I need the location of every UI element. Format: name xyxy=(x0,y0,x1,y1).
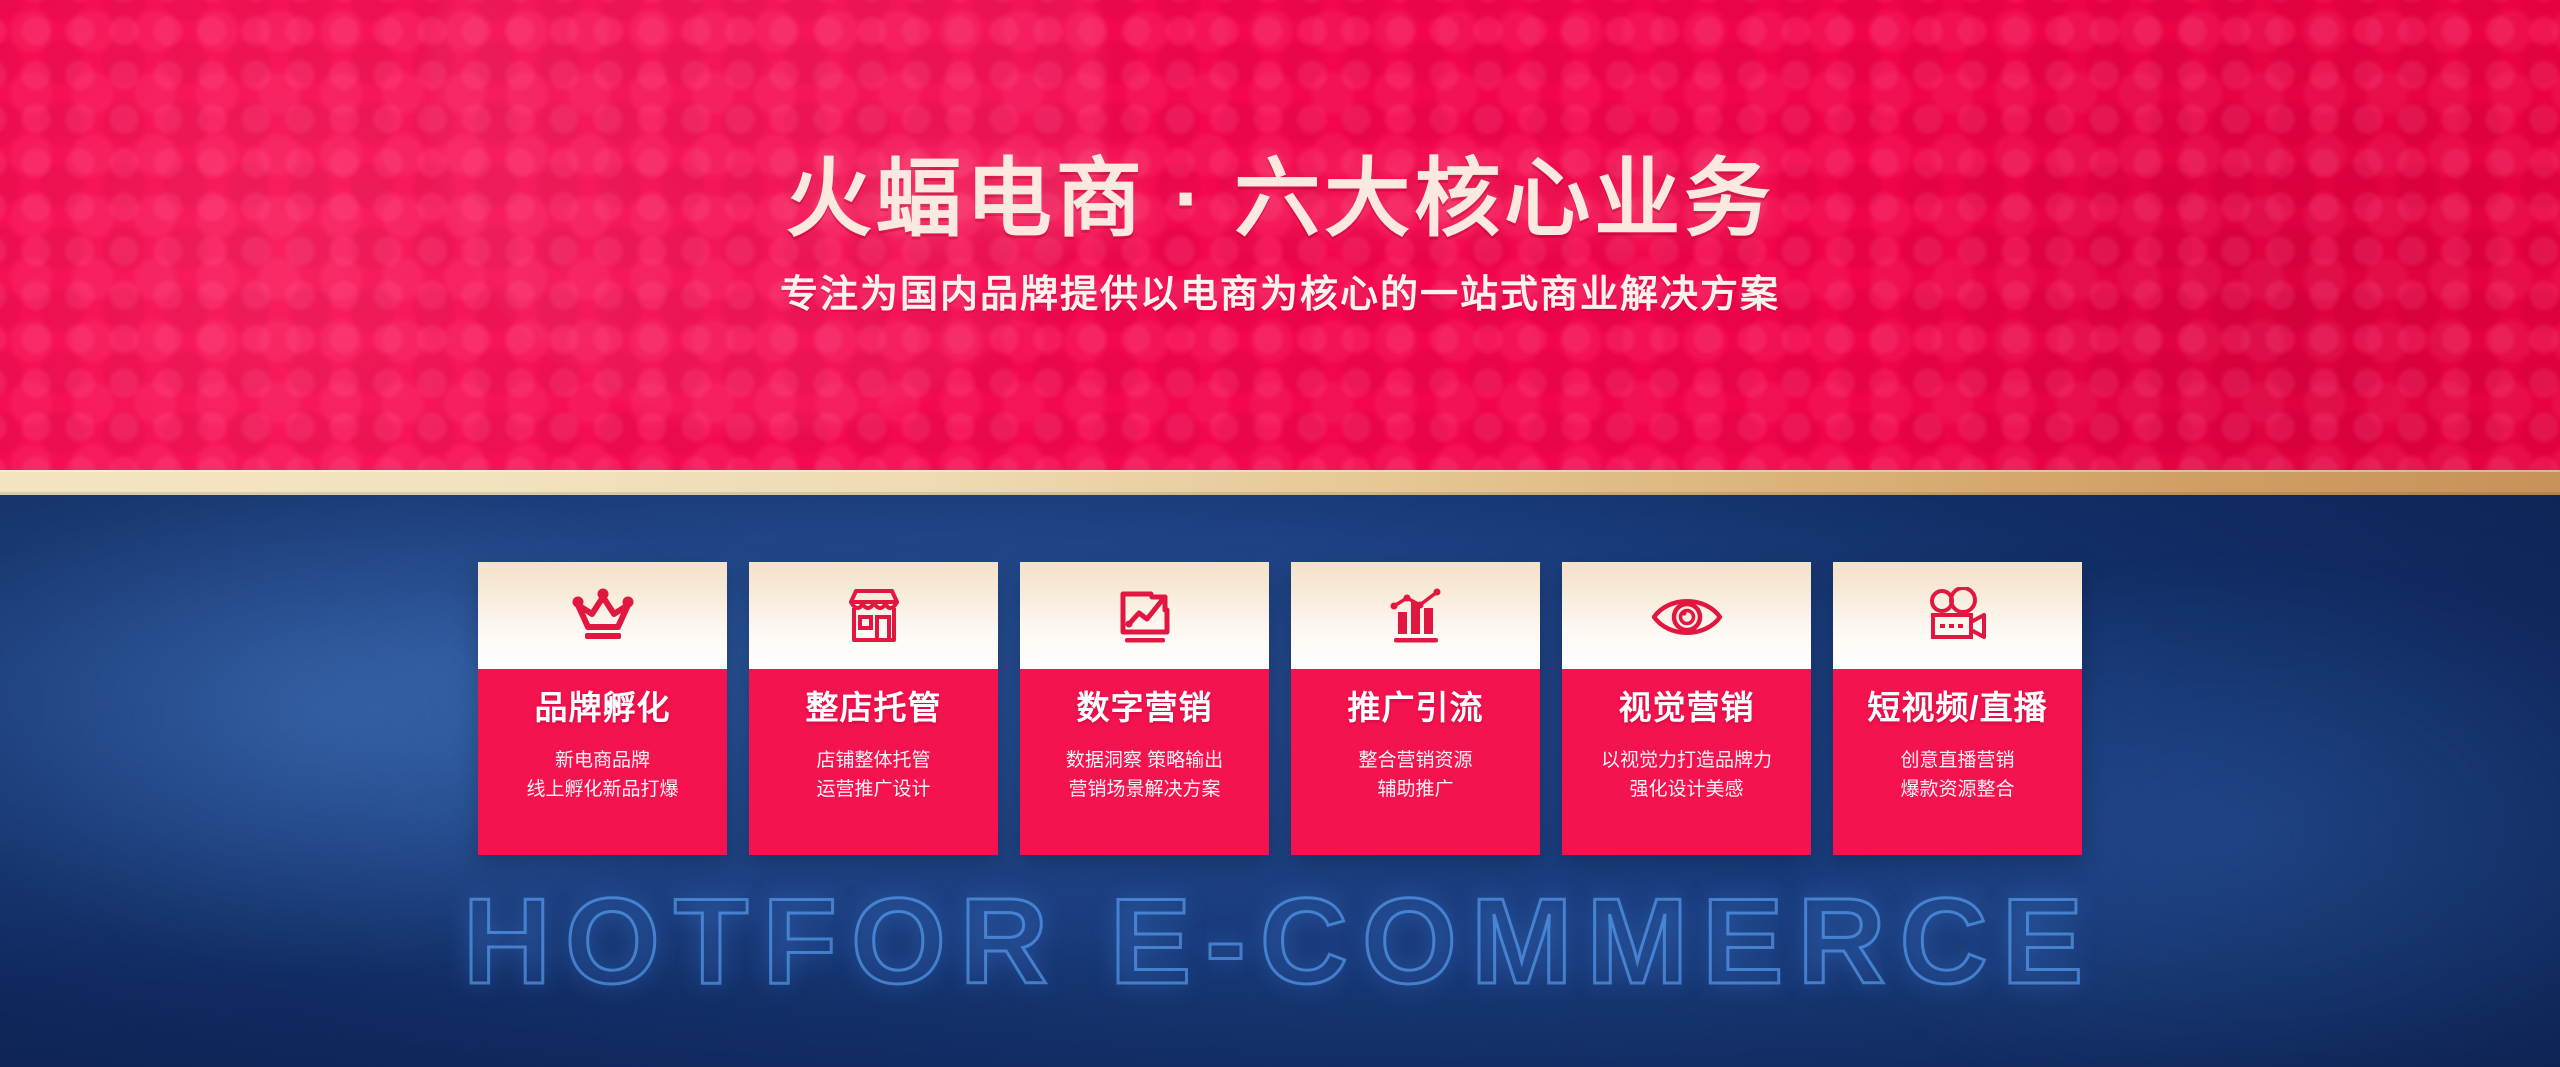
card-description: 创意直播营销 爆款资源整合 xyxy=(1900,746,2014,805)
card-title: 品牌孵化 xyxy=(535,691,671,724)
card-description-line-2: 营销场景解决方案 xyxy=(1066,775,1223,804)
service-card-promotion-traffic[interactable]: 推广引流 整合营销资源 辅助推广 xyxy=(1291,562,1540,855)
card-icon-panel xyxy=(1562,562,1811,669)
page-title: 火蝠电商 · 六大核心业务 xyxy=(786,156,1774,242)
card-description: 以视觉力打造品牌力 强化设计美感 xyxy=(1601,746,1772,805)
card-description: 数据洞察 策略输出 营销场景解决方案 xyxy=(1066,746,1223,805)
card-icon-panel xyxy=(749,562,998,669)
eye-icon xyxy=(1649,590,1725,642)
card-body: 短视频/直播 创意直播营销 爆款资源整合 xyxy=(1833,669,2082,855)
trend-chart-icon xyxy=(1113,586,1177,646)
gold-divider xyxy=(0,470,2560,495)
card-description-line-2: 辅助推广 xyxy=(1358,775,1472,804)
service-card-store-management[interactable]: 整店托管 店铺整体托管 运营推广设计 xyxy=(749,562,998,855)
page-subtitle: 专注为国内品牌提供以电商为核心的一站式商业解决方案 xyxy=(780,276,1780,314)
card-description: 新电商品牌 线上孵化新品打爆 xyxy=(526,746,678,805)
card-icon-panel xyxy=(478,562,727,669)
card-icon-panel xyxy=(1833,562,2082,669)
card-description: 整合营销资源 辅助推广 xyxy=(1358,746,1472,805)
card-description-line-1: 店铺整体托管 xyxy=(816,746,930,775)
card-description-line-1: 整合营销资源 xyxy=(1358,746,1472,775)
card-description: 店铺整体托管 运营推广设计 xyxy=(816,746,930,805)
card-body: 整店托管 店铺整体托管 运营推广设计 xyxy=(749,669,998,855)
card-icon-panel xyxy=(1291,562,1540,669)
banner-root: 火蝠电商 · 六大核心业务 专注为国内品牌提供以电商为核心的一站式商业解决方案 xyxy=(0,0,2560,1067)
card-title: 视觉营销 xyxy=(1619,691,1755,724)
service-card-short-video-live[interactable]: 短视频/直播 创意直播营销 爆款资源整合 xyxy=(1833,562,2082,855)
card-title: 数字营销 xyxy=(1077,691,1213,724)
card-title: 短视频/直播 xyxy=(1867,691,2047,724)
service-card-list: 品牌孵化 新电商品牌 线上孵化新品打爆 xyxy=(478,562,2082,855)
service-card-brand-incubation[interactable]: 品牌孵化 新电商品牌 线上孵化新品打爆 xyxy=(478,562,727,855)
crown-icon xyxy=(570,587,636,645)
service-card-visual-marketing[interactable]: 视觉营销 以视觉力打造品牌力 强化设计美感 xyxy=(1562,562,1811,855)
card-title: 推广引流 xyxy=(1348,691,1484,724)
card-description-line-2: 线上孵化新品打爆 xyxy=(526,775,678,804)
card-icon-panel xyxy=(1020,562,1269,669)
storefront-icon xyxy=(843,586,905,646)
service-card-digital-marketing[interactable]: 数字营销 数据洞察 策略输出 营销场景解决方案 xyxy=(1020,562,1269,855)
hero-section: 火蝠电商 · 六大核心业务 专注为国内品牌提供以电商为核心的一站式商业解决方案 xyxy=(0,0,2560,470)
video-camera-icon xyxy=(1926,587,1990,645)
card-title: 整店托管 xyxy=(806,691,942,724)
card-description-line-2: 强化设计美感 xyxy=(1601,775,1772,804)
card-body: 品牌孵化 新电商品牌 线上孵化新品打爆 xyxy=(478,669,727,855)
card-body: 视觉营销 以视觉力打造品牌力 强化设计美感 xyxy=(1562,669,1811,855)
card-description-line-1: 数据洞察 策略输出 xyxy=(1066,746,1223,775)
card-description-line-1: 以视觉力打造品牌力 xyxy=(1601,746,1772,775)
card-description-line-2: 爆款资源整合 xyxy=(1900,775,2014,804)
card-body: 推广引流 整合营销资源 辅助推广 xyxy=(1291,669,1540,855)
card-body: 数字营销 数据洞察 策略输出 营销场景解决方案 xyxy=(1020,669,1269,855)
brand-wordmark: HOTFOR E-COMMERCE xyxy=(0,880,2560,1002)
card-description-line-2: 运营推广设计 xyxy=(816,775,930,804)
bar-chart-icon xyxy=(1385,586,1447,646)
card-description-line-1: 新电商品牌 xyxy=(526,746,678,775)
card-description-line-1: 创意直播营销 xyxy=(1900,746,2014,775)
